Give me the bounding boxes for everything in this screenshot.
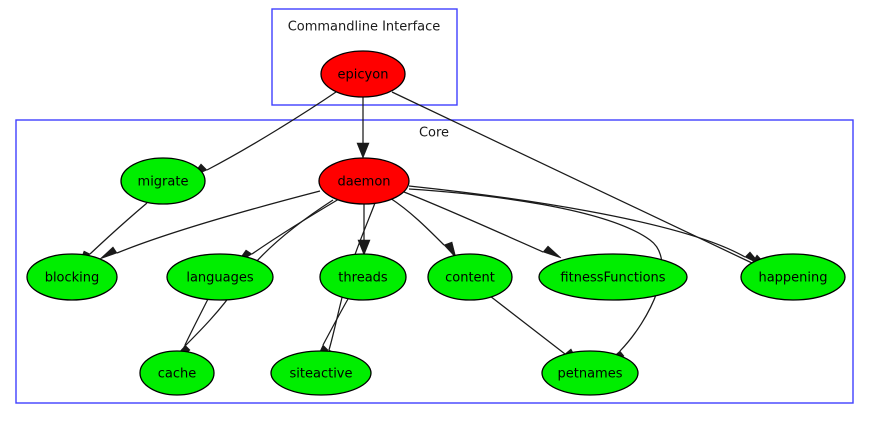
- node-content[interactable]: content: [428, 254, 512, 300]
- cluster-label: Commandline Interface: [288, 20, 441, 35]
- node-languages[interactable]: languages: [167, 254, 273, 300]
- node-shape[interactable]: [542, 351, 638, 395]
- node-daemon[interactable]: daemon: [319, 158, 409, 204]
- node-migrate[interactable]: migrate: [121, 158, 205, 204]
- node-epicyon[interactable]: epicyon: [321, 51, 405, 97]
- node-shape[interactable]: [319, 158, 409, 204]
- node-cache[interactable]: cache: [140, 351, 214, 395]
- dependency-graph-svg: Commandline InterfaceCore epicyondaemonm…: [0, 0, 869, 424]
- graph-background: [0, 0, 869, 424]
- node-shape[interactable]: [140, 351, 214, 395]
- node-blocking[interactable]: blocking: [27, 254, 117, 300]
- diagram-canvas: Commandline InterfaceCore epicyondaemonm…: [0, 0, 869, 424]
- node-shape[interactable]: [321, 51, 405, 97]
- node-happening[interactable]: happening: [741, 254, 845, 300]
- node-shape[interactable]: [121, 158, 205, 204]
- node-shape[interactable]: [428, 254, 512, 300]
- node-shape[interactable]: [167, 254, 273, 300]
- node-shape[interactable]: [539, 254, 687, 300]
- node-petnames[interactable]: petnames: [542, 351, 638, 395]
- node-shape[interactable]: [320, 254, 406, 300]
- node-threads[interactable]: threads: [320, 254, 406, 300]
- node-fitnessFunctions[interactable]: fitnessFunctions: [539, 254, 687, 300]
- node-shape[interactable]: [741, 254, 845, 300]
- cluster-label: Core: [419, 126, 449, 141]
- node-shape[interactable]: [27, 254, 117, 300]
- node-siteactive[interactable]: siteactive: [271, 351, 371, 395]
- node-shape[interactable]: [271, 351, 371, 395]
